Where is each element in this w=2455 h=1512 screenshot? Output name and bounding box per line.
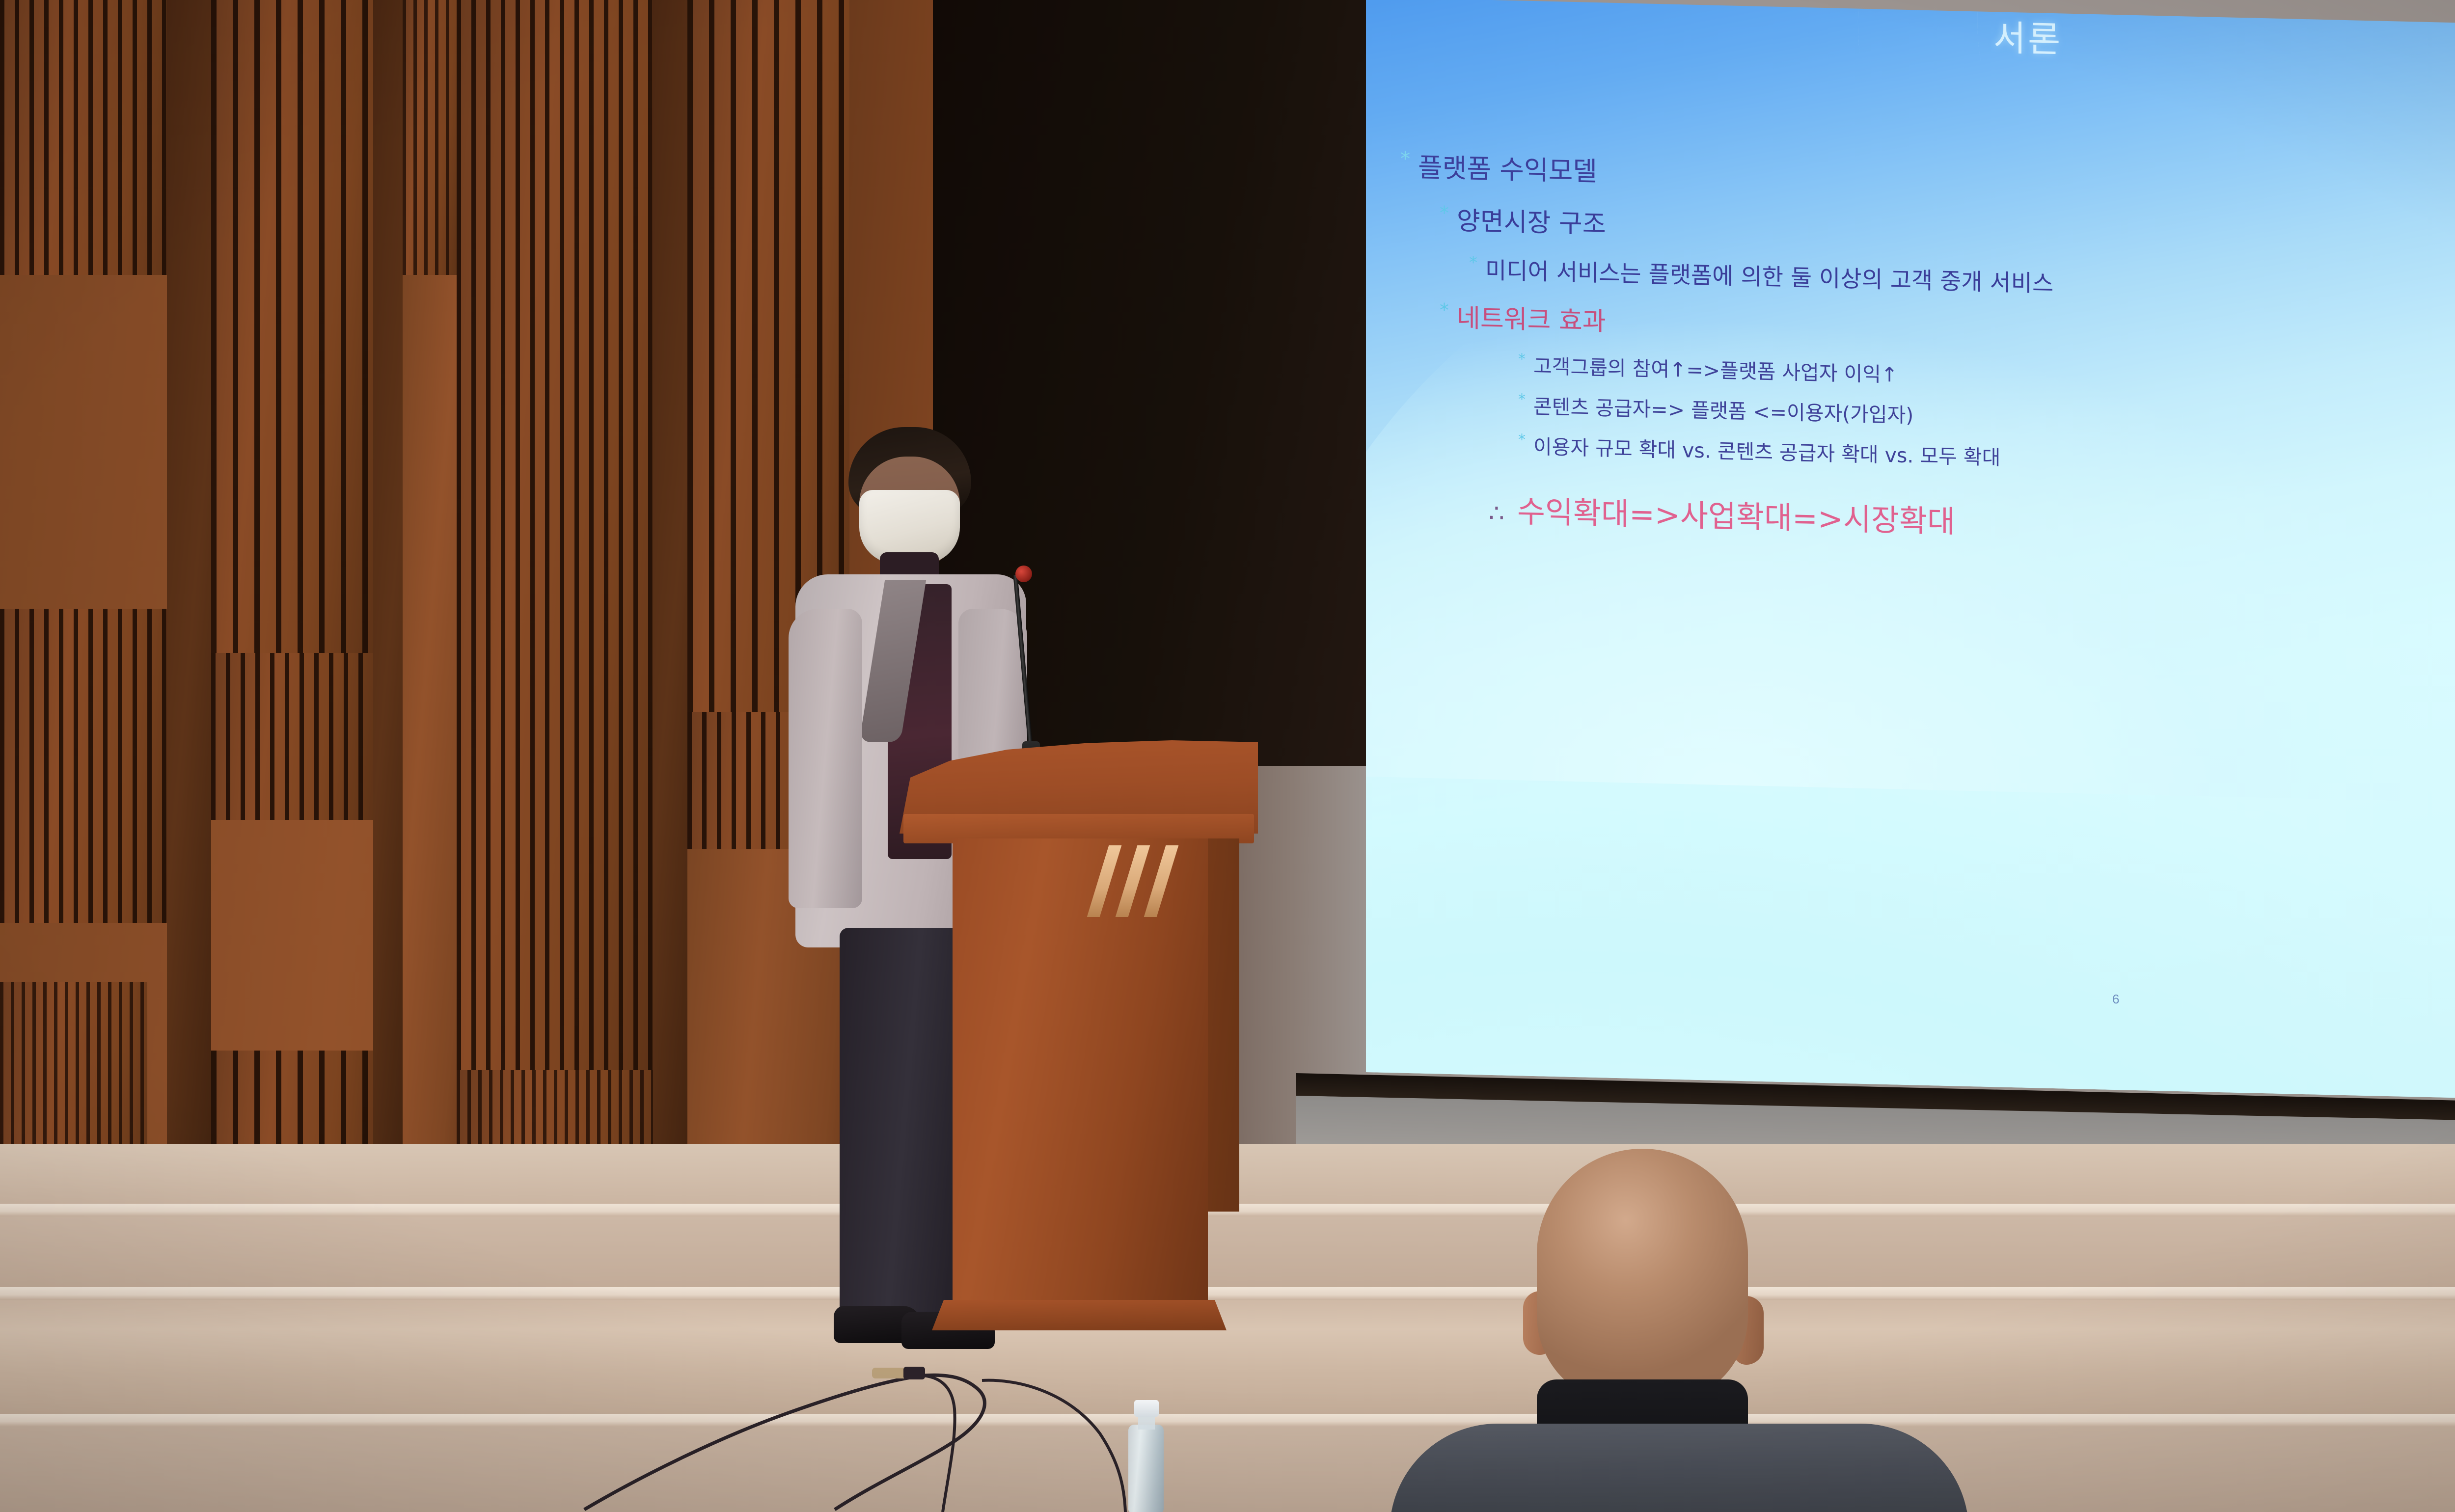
- therefore-symbol-icon: ∴: [1489, 499, 1504, 528]
- asterisk-bullet-icon: *: [1469, 254, 1477, 271]
- wood-slat-panel: [0, 0, 177, 275]
- bullet-text: 양면시장 구조: [1457, 200, 1606, 240]
- bullet-text: 이용자 규모 확대 vs. 콘텐츠 공급자 확대 vs. 모두 확대: [1533, 430, 2000, 470]
- slide-bullet-list: * 플랫폼 수익모델 * 양면시장 구조 * 미디어 서비스는 플랫폼에 의한 …: [1395, 145, 2455, 559]
- audience-member: [1390, 1149, 1969, 1512]
- microphone-head-icon: [1015, 566, 1032, 582]
- bullet-item: * 이용자 규모 확대 vs. 콘텐츠 공급자 확대 vs. 모두 확대: [1518, 430, 2455, 487]
- wood-slat-panel: [0, 609, 177, 923]
- wood-slat-panel: [457, 0, 653, 1070]
- asterisk-bullet-icon: *: [1518, 352, 1526, 367]
- water-bottle-cap: [1134, 1400, 1159, 1417]
- asterisk-bullet-icon: *: [1518, 432, 1526, 447]
- bullet-text: 고객그룹의 참여↑=>플랫폼 사업자 이익↑: [1533, 350, 1898, 387]
- asterisk-bullet-icon: *: [1400, 149, 1410, 169]
- asterisk-bullet-icon: *: [1518, 392, 1526, 407]
- water-bottle: [1128, 1425, 1164, 1512]
- asterisk-bullet-icon: *: [1440, 204, 1449, 222]
- asterisk-bullet-icon: *: [1440, 301, 1449, 320]
- wood-column: [373, 0, 403, 1321]
- podium: [900, 740, 1258, 1364]
- audience-jacket: [1390, 1424, 1969, 1512]
- podium-body: [953, 838, 1208, 1310]
- bullet-text: 플랫폼 수익모델: [1418, 145, 1597, 189]
- wood-slat-panel: [211, 653, 373, 820]
- audience-head: [1537, 1149, 1748, 1404]
- slide-surface: 서론 * 플랫폼 수익모델 * 양면시장 구조 * 미디어 서비스는 플랫폼에 …: [1366, 0, 2455, 1104]
- presenter-left-arm: [789, 609, 862, 908]
- wood-slat-panel: [403, 0, 457, 275]
- bullet-text: 콘텐츠 공급자=> 플랫폼 <=이용자(가입자): [1533, 390, 1913, 428]
- lecture-hall-photo: 서론 * 플랫폼 수익모델 * 양면시장 구조 * 미디어 서비스는 플랫폼에 …: [0, 0, 2455, 1512]
- slide-page-number: 6: [2112, 992, 2119, 1007]
- stage-cable: [579, 1316, 1277, 1512]
- wood-column: [167, 0, 211, 1321]
- bullet-text: 네트워크 효과: [1457, 297, 1606, 337]
- wood-slat-panel: [211, 0, 373, 653]
- projection-screen: 서론 * 플랫폼 수익모델 * 양면시장 구조 * 미디어 서비스는 플랫폼에 …: [1366, 0, 2455, 1104]
- wood-column: [653, 0, 687, 1321]
- bullet-text: 미디어 서비스는 플랫폼에 의한 둘 이상의 고객 중개 서비스: [1485, 251, 2053, 298]
